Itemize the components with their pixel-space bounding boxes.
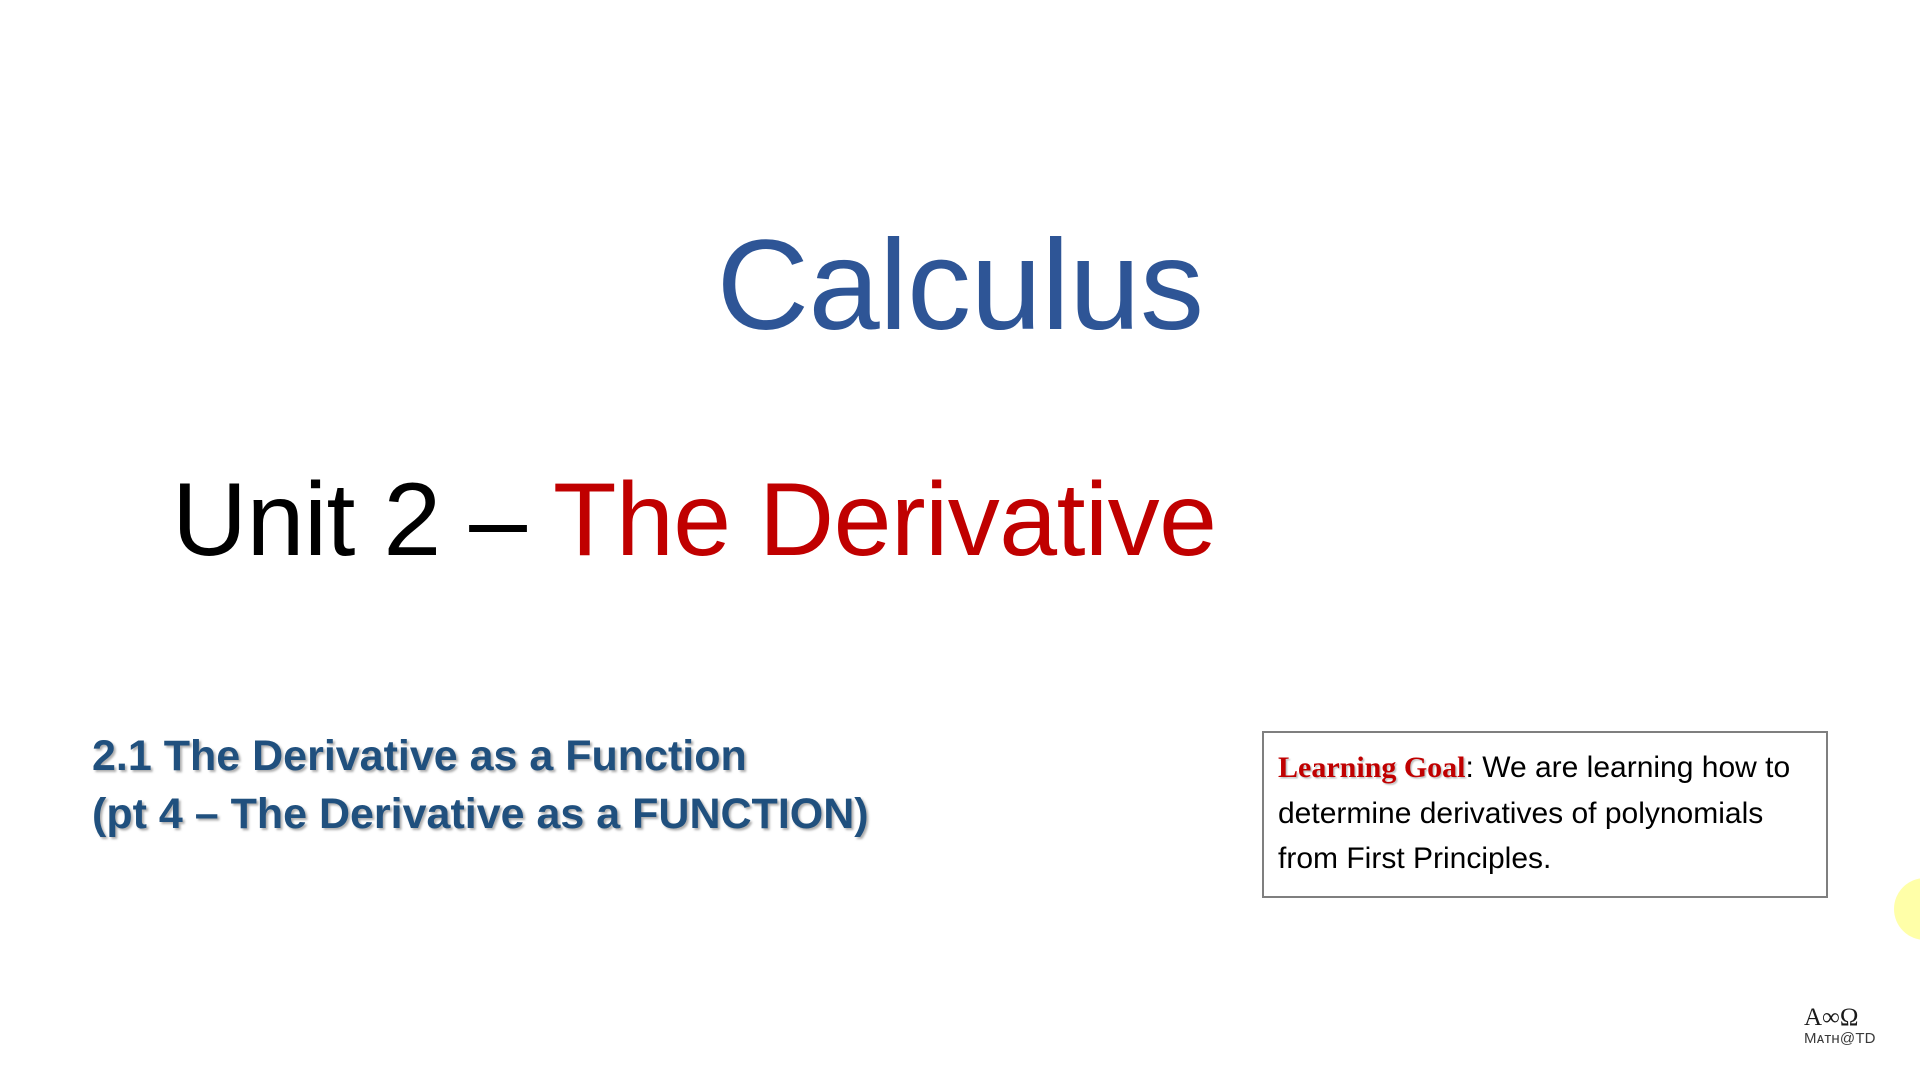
learning-goal-label: Learning Goal [1278, 751, 1466, 784]
unit-subtitle-prefix: Unit 2 – [172, 462, 553, 578]
logo: A∞Ω Mᴀᴛʜ@TD [1804, 1005, 1914, 1047]
section-heading-line-2: (pt 4 – The Derivative as a FUNCTION) [92, 786, 869, 844]
learning-goal-box: Learning Goal: We are learning how to de… [1262, 731, 1828, 898]
unit-subtitle: Unit 2 – The Derivative [172, 466, 1216, 575]
presentation-slide: Calculus Unit 2 – The Derivative 2.1 The… [0, 0, 1920, 1080]
slide-title: Calculus [0, 222, 1920, 350]
learning-goal-text: Learning Goal: We are learning how to de… [1278, 745, 1812, 882]
learning-goal-separator: : [1466, 751, 1483, 784]
logo-symbols-icon: A∞Ω [1804, 1005, 1914, 1031]
yellow-ellipse-decoration [1894, 878, 1920, 940]
section-heading: 2.1 The Derivative as a Function (pt 4 –… [92, 728, 869, 843]
logo-name: Mᴀᴛʜ@TD [1804, 1031, 1914, 1047]
section-heading-line-1: 2.1 The Derivative as a Function [92, 728, 869, 786]
unit-subtitle-topic: The Derivative [553, 462, 1216, 578]
